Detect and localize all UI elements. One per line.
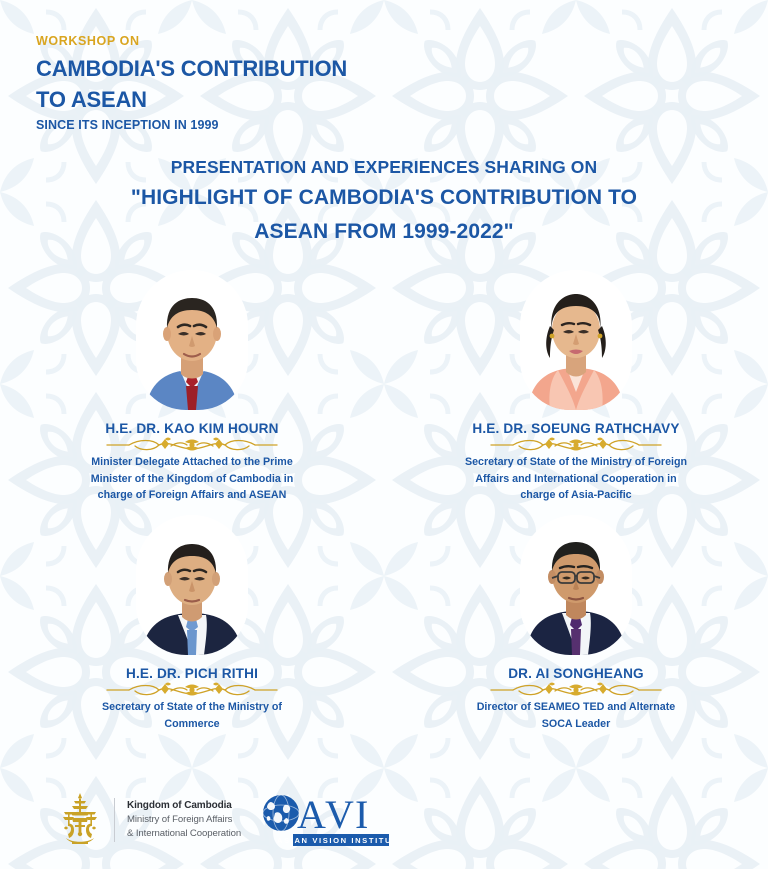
event-title-line2: "HIGHLIGHT OF CAMBODIA'S CONTRIBUTION TO: [64, 182, 704, 214]
speaker-card-2: H.E. DR. SOEUNG RATHCHAVY: [384, 270, 768, 515]
gold-flourish-divider-icon: [99, 682, 285, 698]
gold-flourish-divider-icon: [483, 437, 669, 453]
speaker-card-4: DR. AI SONGHEANG: [384, 515, 768, 760]
speaker-1-name: H.E. DR. KAO KIM HOURN: [105, 421, 278, 436]
avi-logo: A V I ASIAN VISION INSTITUTE: [259, 792, 391, 848]
speaker-3-role: Secretary of State of the Ministry of Co…: [77, 699, 307, 732]
speaker-4-name: DR. AI SONGHEANG: [508, 666, 644, 681]
speaker-4-role: Director of SEAMEO TED and Alternate SOC…: [461, 699, 691, 732]
svg-text:V: V: [325, 792, 354, 837]
ministry-line-1: Kingdom of Cambodia: [127, 799, 241, 813]
ministry-wordmark: Kingdom of Cambodia Ministry of Foreign …: [127, 799, 241, 840]
speaker-3-name: H.E. DR. PICH RITHI: [126, 666, 258, 681]
speaker-card-3: H.E. DR. PICH RITHI: [0, 515, 384, 760]
workshop-eyebrow: WORKSHOP ON: [36, 34, 456, 50]
ministry-line-3: & International Cooperation: [127, 827, 241, 841]
event-title-line3: ASEAN FROM 1999-2022": [64, 216, 704, 248]
speaker-1-portrait: [136, 270, 248, 410]
svg-text:I: I: [355, 792, 368, 837]
speaker-card-1: H.E. DR. KAO KIM HOURN: [0, 270, 384, 515]
speaker-2-name: H.E. DR. SOEUNG RATHCHAVY: [472, 421, 679, 436]
footer-divider: [114, 798, 115, 842]
speakers-grid: H.E. DR. KAO KIM HOURN: [0, 270, 768, 760]
poster-canvas: WORKSHOP ON CAMBODIA'S CONTRIBUTION TO A…: [0, 0, 768, 869]
speaker-3-portrait: [136, 515, 248, 655]
footer-logos: Kingdom of Cambodia Ministry of Foreign …: [0, 780, 768, 860]
speaker-4-portrait: [520, 515, 632, 655]
event-title-line1: PRESENTATION AND EXPERIENCES SHARING ON: [64, 155, 704, 180]
workshop-title-line2: TO ASEAN: [36, 87, 456, 113]
cambodia-royal-crest-icon: [56, 792, 104, 848]
speaker-1-role: Minister Delegate Attached to the Prime …: [77, 454, 307, 504]
gold-flourish-divider-icon: [99, 437, 285, 453]
speaker-2-role: Secretary of State of the Ministry of Fo…: [461, 454, 691, 504]
workshop-subtitle: SINCE ITS INCEPTION IN 1999: [36, 117, 456, 133]
ministry-line-2: Ministry of Foreign Affairs: [127, 813, 241, 827]
gold-flourish-divider-icon: [483, 682, 669, 698]
svg-text:A: A: [297, 792, 326, 837]
speaker-2-portrait: [520, 270, 632, 410]
avi-tagline-text: ASIAN VISION INSTITUTE: [277, 836, 391, 845]
event-title-block: PRESENTATION AND EXPERIENCES SHARING ON …: [64, 155, 704, 247]
workshop-header: WORKSHOP ON CAMBODIA'S CONTRIBUTION TO A…: [36, 34, 456, 133]
workshop-title-line1: CAMBODIA'S CONTRIBUTION: [36, 56, 456, 82]
